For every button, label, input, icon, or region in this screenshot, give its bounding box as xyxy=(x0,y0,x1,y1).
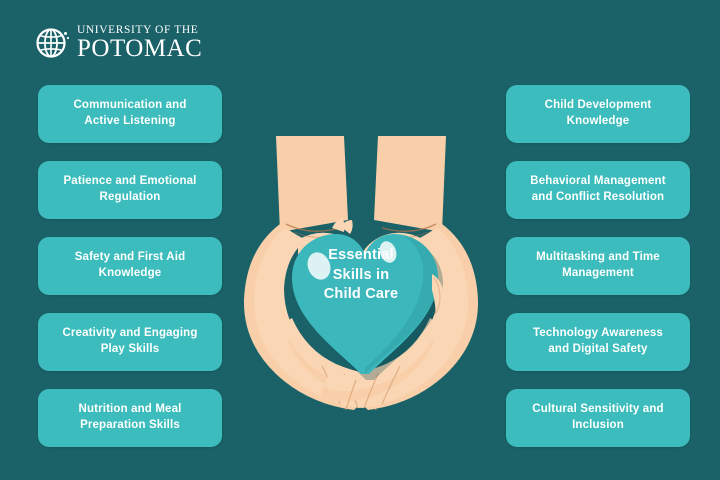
skill-card-left-4[interactable]: Creativity and Engaging Play Skills xyxy=(38,313,222,371)
skill-card-left-1[interactable]: Communication and Active Listening xyxy=(38,85,222,143)
skill-label-line-2: Inclusion xyxy=(572,419,624,431)
skill-label-line-2: Knowledge xyxy=(567,115,630,127)
skill-card-label: Behavioral Management and Conflict Resol… xyxy=(530,174,665,205)
skill-label-line-2: Active Listening xyxy=(84,115,175,127)
skill-label-line-2: and Digital Safety xyxy=(548,343,647,355)
skill-card-label: Technology Awareness and Digital Safety xyxy=(533,326,663,357)
skill-label-line-1: Nutrition and Meal xyxy=(78,403,181,415)
skill-label-line-1: Patience and Emotional xyxy=(63,175,196,187)
globe-icon xyxy=(36,26,70,60)
skill-label-line-1: Behavioral Management xyxy=(530,175,665,187)
skill-card-label: Communication and Active Listening xyxy=(73,98,186,129)
skill-card-label: Multitasking and Time Management xyxy=(536,250,660,281)
skill-card-label: Nutrition and Meal Preparation Skills xyxy=(78,402,181,433)
skill-label-line-2: Management xyxy=(562,267,634,279)
skill-label-line-2: and Conflict Resolution xyxy=(532,191,665,203)
skill-card-right-1[interactable]: Child Development Knowledge xyxy=(506,85,690,143)
skill-card-label: Creativity and Engaging Play Skills xyxy=(62,326,197,357)
logo-line-2: POTOMAC xyxy=(77,37,202,61)
skill-label-line-1: Multitasking and Time xyxy=(536,251,660,263)
skill-label-line-1: Safety and First Aid xyxy=(75,251,186,263)
skill-card-right-2[interactable]: Behavioral Management and Conflict Resol… xyxy=(506,161,690,219)
skill-card-right-3[interactable]: Multitasking and Time Management xyxy=(506,237,690,295)
skill-label-line-2: Regulation xyxy=(100,191,161,203)
skill-card-left-5[interactable]: Nutrition and Meal Preparation Skills xyxy=(38,389,222,447)
skill-card-left-3[interactable]: Safety and First Aid Knowledge xyxy=(38,237,222,295)
skill-card-label: Patience and Emotional Regulation xyxy=(63,174,196,205)
skill-card-label: Child Development Knowledge xyxy=(545,98,652,129)
skill-label-line-2: Play Skills xyxy=(101,343,160,355)
skill-card-right-5[interactable]: Cultural Sensitivity and Inclusion xyxy=(506,389,690,447)
skill-card-label: Safety and First Aid Knowledge xyxy=(75,250,186,281)
logo-wordmark: UNIVERSITY OF THE POTOMAC xyxy=(77,25,202,61)
skill-card-right-4[interactable]: Technology Awareness and Digital Safety xyxy=(506,313,690,371)
skill-label-line-1: Cultural Sensitivity and xyxy=(532,403,663,415)
skill-label-line-1: Technology Awareness xyxy=(533,327,663,339)
skill-label-line-1: Creativity and Engaging xyxy=(62,327,197,339)
skill-card-label: Cultural Sensitivity and Inclusion xyxy=(532,402,663,433)
skill-label-line-2: Preparation Skills xyxy=(80,419,180,431)
infographic-canvas: UNIVERSITY OF THE POTOMAC Communication … xyxy=(0,0,720,480)
skill-label-line-1: Child Development xyxy=(545,99,652,111)
university-logo: UNIVERSITY OF THE POTOMAC xyxy=(36,20,202,66)
skill-label-line-2: Knowledge xyxy=(99,267,162,279)
hands-holding-heart-illustration xyxy=(236,128,486,413)
skill-card-left-2[interactable]: Patience and Emotional Regulation xyxy=(38,161,222,219)
skill-label-line-1: Communication and xyxy=(73,99,186,111)
